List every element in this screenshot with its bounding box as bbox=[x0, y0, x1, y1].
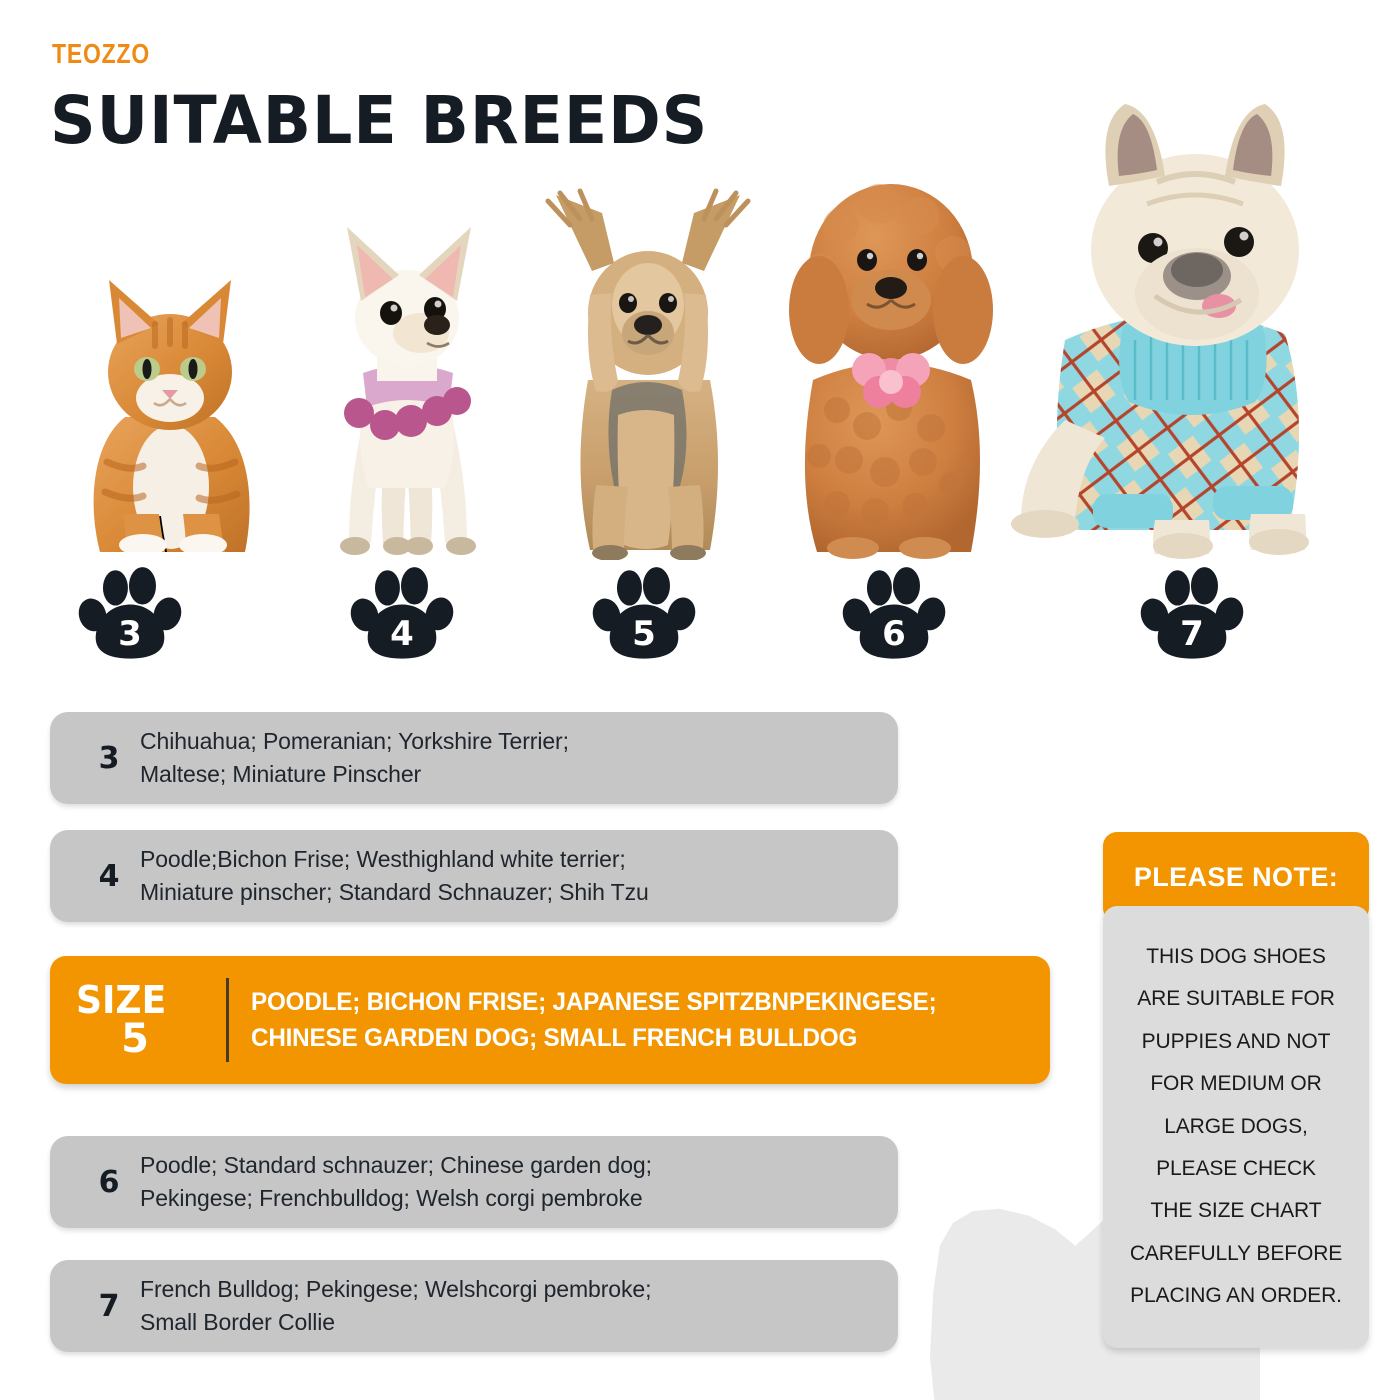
row-breed-text: POODLE; BICHON FRISE; JAPANESE SPITZBNPE… bbox=[251, 984, 936, 1057]
kitten-photo bbox=[55, 252, 285, 552]
row-size-number: 3 bbox=[78, 741, 140, 776]
paw-number-label: 3 bbox=[78, 617, 182, 651]
poodle-photo bbox=[775, 160, 1010, 560]
vertical-divider bbox=[226, 978, 229, 1062]
paw-icon-4: 4 bbox=[350, 565, 454, 669]
paw-number-row: 3 4 5 bbox=[0, 565, 1400, 680]
paw-icon-5: 5 bbox=[592, 565, 696, 669]
please-note-panel: PLEASE NOTE: THIS DOG SHOES ARE SUITABLE… bbox=[1103, 832, 1369, 1348]
brand-logo: TEOZZO bbox=[52, 38, 150, 70]
size-badge: SIZE 5 bbox=[76, 982, 226, 1059]
row-breed-text: Chihuahua; Pomeranian; Yorkshire Terrier… bbox=[140, 725, 569, 790]
row-breed-text: Poodle;Bichon Frise; Westhighland white … bbox=[140, 843, 649, 908]
please-note-body: THIS DOG SHOES ARE SUITABLE FOR PUPPIES … bbox=[1103, 906, 1369, 1348]
chihuahua-photo bbox=[315, 213, 500, 558]
french-bulldog-photo bbox=[1005, 90, 1350, 560]
row-breed-text: Poodle; Standard schnauzer; Chinese gard… bbox=[140, 1149, 652, 1214]
breed-row-3[interactable]: 3 Chihuahua; Pomeranian; Yorkshire Terri… bbox=[50, 712, 898, 804]
breed-row-4[interactable]: 4 Poodle;Bichon Frise; Westhighland whit… bbox=[50, 830, 898, 922]
row-breed-text: French Bulldog; Pekingese; Welshcorgi pe… bbox=[140, 1273, 651, 1338]
breed-row-7[interactable]: 7 French Bulldog; Pekingese; Welshcorgi … bbox=[50, 1260, 898, 1352]
breed-row-5-highlighted[interactable]: SIZE 5 POODLE; BICHON FRISE; JAPANESE SP… bbox=[50, 956, 1050, 1084]
paw-number-label: 4 bbox=[350, 617, 454, 651]
yorkshire-terrier-photo bbox=[540, 185, 755, 560]
page-title: SUITABLE BREEDS bbox=[50, 82, 708, 159]
row-size-number: 7 bbox=[78, 1289, 140, 1324]
paw-icon-6: 6 bbox=[842, 565, 946, 669]
paw-icon-7: 7 bbox=[1140, 565, 1244, 669]
row-size-number: 6 bbox=[78, 1165, 140, 1200]
paw-number-label: 5 bbox=[592, 617, 696, 651]
size-word-label: SIZE bbox=[76, 982, 209, 1018]
row-size-number: 4 bbox=[78, 859, 140, 894]
size-number-label: 5 bbox=[76, 1020, 216, 1058]
infographic-page: TEOZZO SUITABLE BREEDS bbox=[0, 0, 1400, 1400]
paw-number-label: 6 bbox=[842, 617, 946, 651]
paw-number-label: 7 bbox=[1140, 617, 1244, 651]
paw-icon-3: 3 bbox=[78, 565, 182, 669]
breed-row-6[interactable]: 6 Poodle; Standard schnauzer; Chinese ga… bbox=[50, 1136, 898, 1228]
